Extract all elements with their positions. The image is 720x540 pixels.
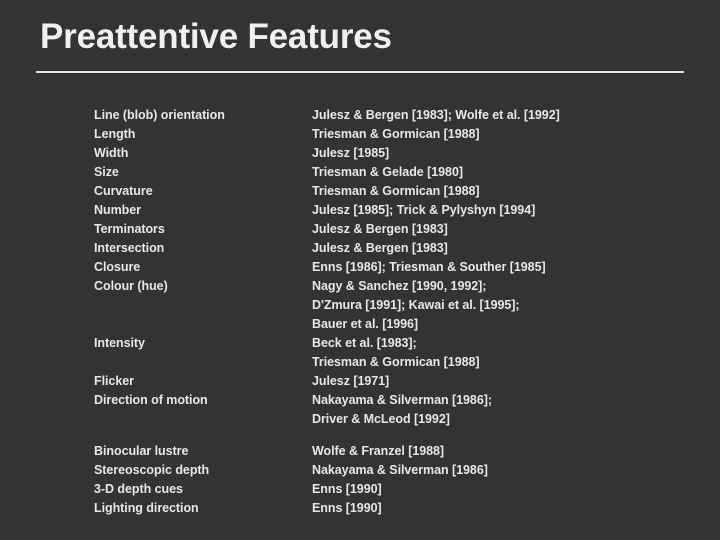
feature-reference: Triesman & Gelade [1980]	[312, 163, 463, 182]
table-row: LengthTriesman & Gormican [1988]	[94, 125, 694, 144]
feature-reference: Triesman & Gormican [1988]	[312, 353, 480, 372]
feature-name: Intersection	[94, 239, 312, 258]
feature-reference: D'Zmura [1991]; Kawai et al. [1995];	[312, 296, 520, 315]
table-row: IntensityBeck et al. [1983];	[94, 334, 694, 353]
feature-reference: Enns [1986]; Triesman & Souther [1985]	[312, 258, 546, 277]
feature-name: Binocular lustre	[94, 442, 312, 461]
table-row: Colour (hue)Nagy & Sanchez [1990, 1992];	[94, 277, 694, 296]
table-row: WidthJulesz [1985]	[94, 144, 694, 163]
table-row: Stereoscopic depthNakayama & Silverman […	[94, 461, 694, 480]
feature-name: Closure	[94, 258, 312, 277]
feature-reference: Julesz [1971]	[312, 372, 389, 391]
feature-reference: Enns [1990]	[312, 480, 382, 499]
table-row: Direction of motionNakayama & Silverman …	[94, 391, 694, 410]
table-row: Bauer et al. [1996]	[94, 315, 694, 334]
feature-reference: Wolfe & Franzel [1988]	[312, 442, 444, 461]
feature-name: Intensity	[94, 334, 312, 353]
table-row: ClosureEnns [1986]; Triesman & Souther […	[94, 258, 694, 277]
table-row: Triesman & Gormican [1988]	[94, 353, 694, 372]
feature-name: Line (blob) orientation	[94, 106, 312, 125]
feature-reference: Julesz & Bergen [1983]	[312, 220, 448, 239]
feature-name: Stereoscopic depth	[94, 461, 312, 480]
feature-reference: Julesz & Bergen [1983]; Wolfe et al. [19…	[312, 106, 560, 125]
title-divider	[36, 71, 684, 73]
feature-name: Curvature	[94, 182, 312, 201]
feature-reference: Enns [1990]	[312, 499, 382, 518]
table-row: 3-D depth cuesEnns [1990]	[94, 480, 694, 499]
feature-reference: Driver & McLeod [1992]	[312, 410, 450, 429]
table-row: Lighting directionEnns [1990]	[94, 499, 694, 518]
feature-reference: Nakayama & Silverman [1986];	[312, 391, 492, 410]
feature-reference: Bauer et al. [1996]	[312, 315, 418, 334]
feature-name: 3-D depth cues	[94, 480, 312, 499]
slide: Preattentive Features Line (blob) orient…	[0, 0, 720, 540]
table-row: Driver & McLeod [1992]	[94, 410, 694, 429]
feature-name: Length	[94, 125, 312, 144]
feature-name: Terminators	[94, 220, 312, 239]
preattentive-features-table: Line (blob) orientationJulesz & Bergen […	[94, 106, 694, 518]
table-row: Binocular lustreWolfe & Franzel [1988]	[94, 442, 694, 461]
feature-name: Number	[94, 201, 312, 220]
feature-name: Direction of motion	[94, 391, 312, 410]
table-row: TerminatorsJulesz & Bergen [1983]	[94, 220, 694, 239]
feature-reference: Triesman & Gormican [1988]	[312, 182, 480, 201]
feature-name: Lighting direction	[94, 499, 312, 518]
table-row: D'Zmura [1991]; Kawai et al. [1995];	[94, 296, 694, 315]
feature-reference: Julesz [1985]; Trick & Pylyshyn [1994]	[312, 201, 535, 220]
table-row: Line (blob) orientationJulesz & Bergen […	[94, 106, 694, 125]
feature-reference: Nagy & Sanchez [1990, 1992];	[312, 277, 486, 296]
feature-reference: Julesz [1985]	[312, 144, 389, 163]
feature-reference: Beck et al. [1983];	[312, 334, 417, 353]
table-row: FlickerJulesz [1971]	[94, 372, 694, 391]
table-row: CurvatureTriesman & Gormican [1988]	[94, 182, 694, 201]
table-row: SizeTriesman & Gelade [1980]	[94, 163, 694, 182]
feature-name: Width	[94, 144, 312, 163]
feature-name: Size	[94, 163, 312, 182]
table-row: NumberJulesz [1985]; Trick & Pylyshyn [1…	[94, 201, 694, 220]
page-title: Preattentive Features	[40, 16, 392, 58]
table-row	[94, 429, 694, 442]
feature-name: Colour (hue)	[94, 277, 312, 296]
feature-reference: Nakayama & Silverman [1986]	[312, 461, 488, 480]
feature-reference: Julesz & Bergen [1983]	[312, 239, 448, 258]
feature-name: Flicker	[94, 372, 312, 391]
table-row: IntersectionJulesz & Bergen [1983]	[94, 239, 694, 258]
feature-reference: Triesman & Gormican [1988]	[312, 125, 480, 144]
